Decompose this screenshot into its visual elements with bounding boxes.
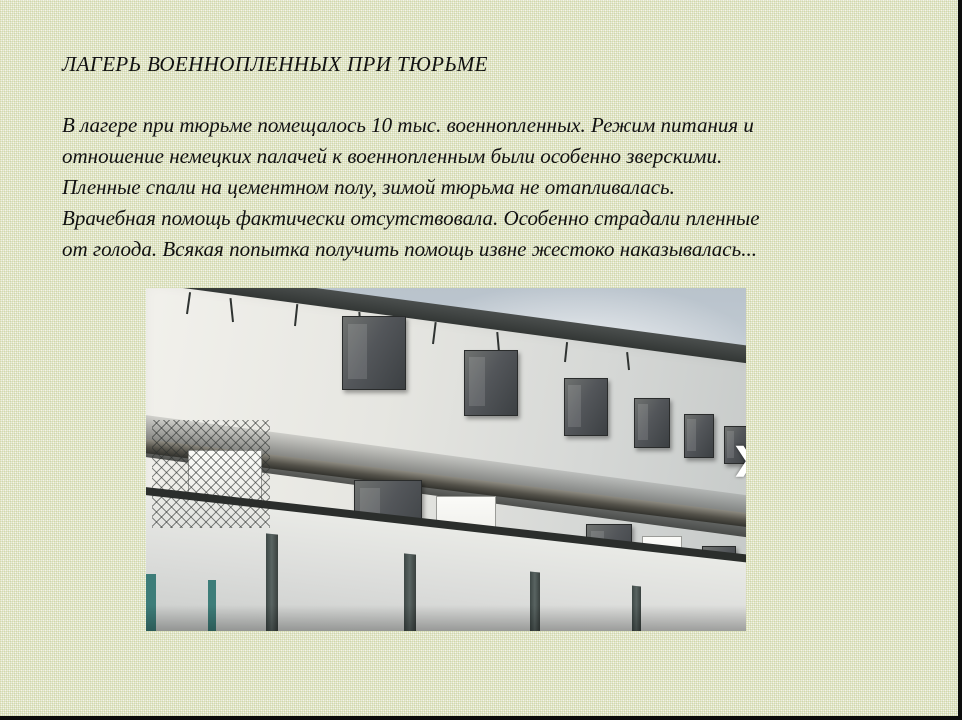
body-line: отношение немецких палачей к военнопленн… (62, 141, 892, 172)
body-line: Пленные спали на цементном полу, зимой т… (62, 172, 892, 203)
slide-canvas: ЛАГЕРЬ ВОЕННОПЛЕННЫХ ПРИ ТЮРЬМЕ В лагере… (0, 0, 962, 720)
body-line: В лагере при тюрьме помещалось 10 тыс. в… (62, 110, 892, 141)
page-title: ЛАГЕРЬ ВОЕННОПЛЕННЫХ ПРИ ТЮРЬМЕ (62, 52, 902, 77)
window-blinder (684, 414, 714, 458)
window-blinder (634, 398, 670, 448)
body-line: Врачебная помощь фактически отсутствовал… (62, 203, 892, 234)
next-slide-arrow-icon[interactable]: ❯ (732, 443, 746, 477)
window-blinder (342, 316, 406, 390)
body-line: от голода. Всякая попытка получить помощ… (62, 234, 892, 265)
window-blinder (564, 378, 608, 436)
slide-photo: ❯ (146, 288, 746, 631)
chain-link-mesh (152, 420, 270, 528)
photo-bottom-shadow (146, 605, 746, 631)
window-blinder (464, 350, 518, 416)
slide-body-text: В лагере при тюрьме помещалось 10 тыс. в… (62, 110, 892, 265)
photo-image: ❯ (146, 288, 746, 631)
